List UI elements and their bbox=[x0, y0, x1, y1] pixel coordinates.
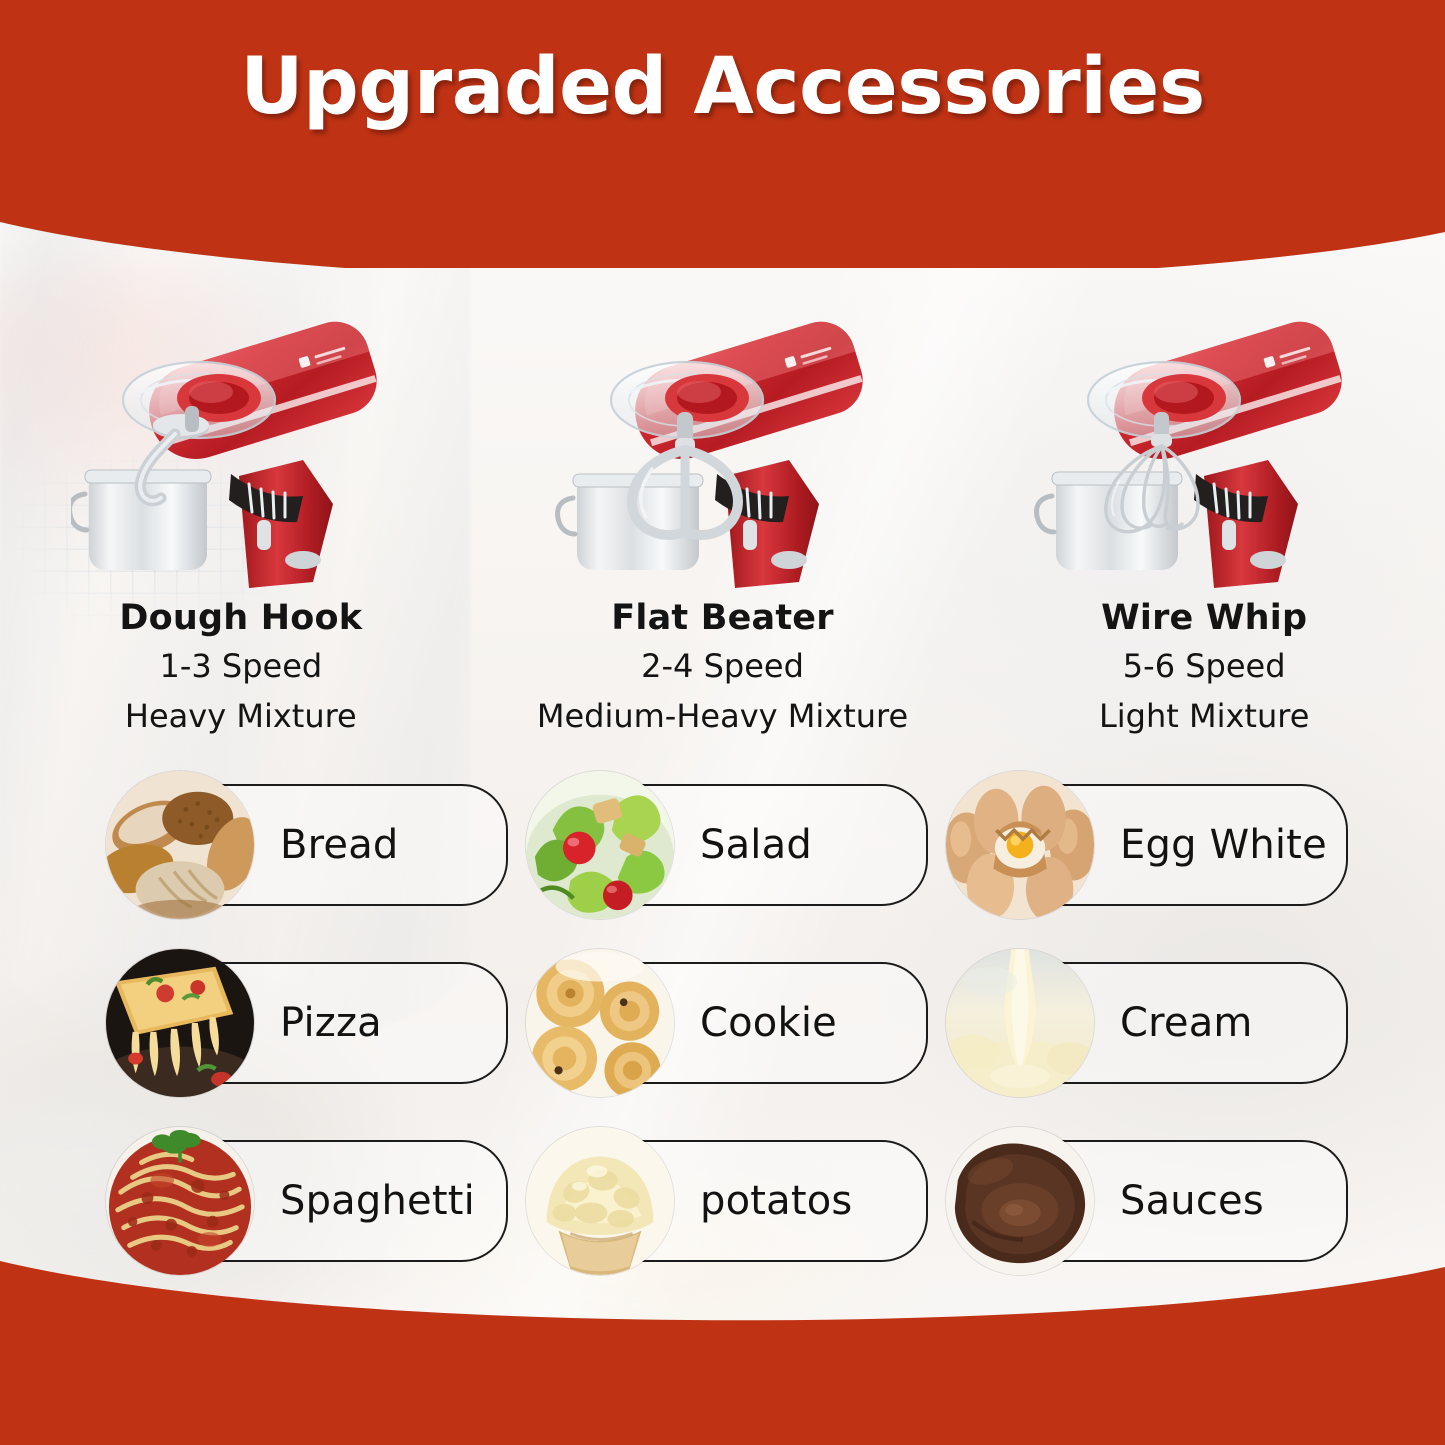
mixer-image-row bbox=[0, 268, 1445, 588]
mashed-potatos-photo-icon bbox=[526, 1127, 674, 1275]
food-pill-egg-white[interactable]: Egg White bbox=[958, 784, 1348, 906]
food-pill-cream[interactable]: Cream bbox=[958, 962, 1348, 1084]
food-label: Bread bbox=[280, 822, 399, 868]
food-label: Spaghetti bbox=[280, 1178, 475, 1224]
spaghetti-photo-icon bbox=[106, 1127, 254, 1275]
food-label: Cookie bbox=[700, 1000, 837, 1046]
food-pill-salad[interactable]: Salad bbox=[538, 784, 928, 906]
cookie-photo-icon bbox=[526, 949, 674, 1097]
accessory-speed: 5-6 Speed bbox=[963, 641, 1445, 692]
accessory-speed: 1-3 Speed bbox=[0, 641, 482, 692]
accessory-heading-dough-hook: Dough Hook 1-3 Speed Heavy Mixture bbox=[0, 596, 482, 742]
stand-mixer-flat-beater-icon bbox=[553, 288, 893, 588]
cream-photo-icon bbox=[946, 949, 1094, 1097]
food-pill-cookie[interactable]: Cookie bbox=[538, 962, 928, 1084]
food-pill-bread[interactable]: Bread bbox=[118, 784, 508, 906]
page-title: Upgraded Accessories bbox=[0, 42, 1445, 132]
stand-mixer-wire-whip-icon bbox=[1034, 288, 1374, 588]
accessory-heading-flat-beater: Flat Beater 2-4 Speed Medium-Heavy Mixtu… bbox=[482, 596, 964, 742]
header-band bbox=[0, 0, 1445, 268]
accessory-mixture: Light Mixture bbox=[963, 692, 1445, 742]
mixer-cell-flat-beater bbox=[482, 268, 964, 588]
stand-mixer-dough-hook-icon bbox=[71, 288, 411, 588]
food-label: Sauces bbox=[1120, 1178, 1264, 1224]
food-pill-potatos[interactable]: potatos bbox=[538, 1140, 928, 1262]
food-label: Salad bbox=[700, 822, 812, 868]
food-label: Egg White bbox=[1120, 822, 1327, 868]
mixer-cell-dough-hook bbox=[0, 268, 482, 588]
accessory-name: Dough Hook bbox=[0, 596, 482, 641]
food-label: Pizza bbox=[280, 1000, 382, 1046]
bread-photo-icon bbox=[106, 771, 254, 919]
accessory-speed: 2-4 Speed bbox=[482, 641, 964, 692]
salad-photo-icon bbox=[526, 771, 674, 919]
food-label: potatos bbox=[700, 1178, 852, 1224]
food-pill-sauces[interactable]: Sauces bbox=[958, 1140, 1348, 1262]
accessory-name: Wire Whip bbox=[963, 596, 1445, 641]
footer-band bbox=[0, 1255, 1445, 1445]
food-label: Cream bbox=[1120, 1000, 1253, 1046]
accessory-name: Flat Beater bbox=[482, 596, 964, 641]
accessory-mixture: Medium-Heavy Mixture bbox=[482, 692, 964, 742]
eggs-photo-icon bbox=[946, 771, 1094, 919]
food-pill-spaghetti[interactable]: Spaghetti bbox=[118, 1140, 508, 1262]
mixer-cell-wire-whip bbox=[963, 268, 1445, 588]
product-infographic: Upgraded Accessories bbox=[0, 0, 1445, 1445]
accessory-mixture: Heavy Mixture bbox=[0, 692, 482, 742]
food-pill-grid: Bread bbox=[118, 784, 1348, 1262]
accessory-headings-row: Dough Hook 1-3 Speed Heavy Mixture Flat … bbox=[0, 596, 1445, 742]
accessory-heading-wire-whip: Wire Whip 5-6 Speed Light Mixture bbox=[963, 596, 1445, 742]
chocolate-sauce-photo-icon bbox=[946, 1127, 1094, 1275]
pizza-photo-icon bbox=[106, 949, 254, 1097]
food-pill-pizza[interactable]: Pizza bbox=[118, 962, 508, 1084]
